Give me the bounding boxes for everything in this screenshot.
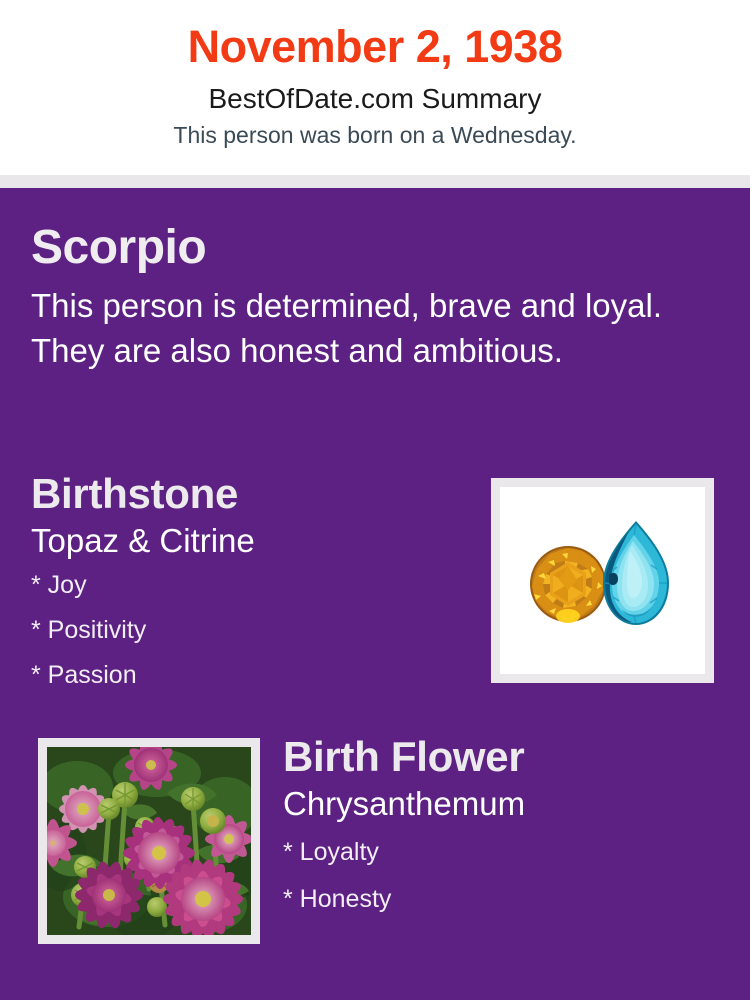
birthstone-name: Topaz & Citrine bbox=[31, 523, 471, 559]
birth-flower-heading: Birth Flower bbox=[283, 736, 723, 778]
birth-flower-photo bbox=[47, 747, 251, 935]
birth-flower-photo-frame bbox=[38, 738, 260, 944]
birthstone-trait-list: * Joy * Positivity * Passion bbox=[31, 573, 471, 688]
birthstone-photo bbox=[500, 487, 705, 674]
zodiac-description: This person is determined, brave and loy… bbox=[31, 284, 691, 373]
list-item: * Positivity bbox=[31, 618, 471, 643]
list-item: * Honesty bbox=[283, 887, 723, 912]
birth-flower-name: Chrysanthemum bbox=[283, 786, 723, 822]
gemstones-icon bbox=[500, 487, 705, 674]
zodiac-section: Scorpio This person is determined, brave… bbox=[31, 224, 701, 373]
list-item: * Joy bbox=[31, 573, 471, 598]
birthstone-section: Birthstone Topaz & Citrine * Joy * Posit… bbox=[31, 473, 471, 708]
birth-flower-section: Birth Flower Chrysanthemum * Loyalty * H… bbox=[283, 736, 723, 934]
site-name: BestOfDate.com Summary bbox=[0, 84, 750, 115]
born-day-text: This person was born on a Wednesday. bbox=[0, 123, 750, 148]
page-title-date: November 2, 1938 bbox=[0, 24, 750, 69]
summary-card: November 2, 1938 BestOfDate.com Summary … bbox=[0, 0, 750, 1000]
birth-flower-trait-list: * Loyalty * Honesty bbox=[283, 840, 723, 912]
header: November 2, 1938 BestOfDate.com Summary … bbox=[0, 0, 750, 175]
list-item: * Loyalty bbox=[283, 840, 723, 865]
birthstone-photo-frame bbox=[491, 478, 714, 683]
zodiac-sign-title: Scorpio bbox=[31, 224, 701, 272]
header-divider bbox=[0, 175, 750, 188]
chrysanthemum-flowers-icon bbox=[47, 747, 251, 935]
birthstone-heading: Birthstone bbox=[31, 473, 471, 515]
list-item: * Passion bbox=[31, 663, 471, 688]
